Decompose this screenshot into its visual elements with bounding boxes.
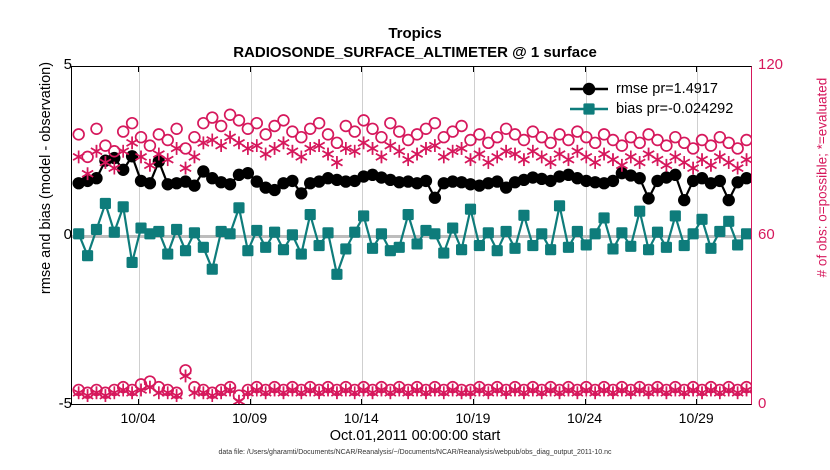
x-tick-mark — [361, 399, 362, 405]
series-bias — [73, 198, 751, 280]
x-tick-10-29: 10/29 — [679, 410, 714, 426]
x-tick-10-14: 10/14 — [344, 410, 379, 426]
y-axis-left-label: rmse and bias (model - observation) — [38, 28, 54, 328]
x-tick-mark — [585, 399, 586, 405]
legend-label: rmse pr=1.4917 — [616, 79, 718, 99]
x-tick-10-19: 10/19 — [455, 410, 490, 426]
figure-canvas: Tropics RADIOSONDE_SURFACE_ALTIMETER @ 1… — [0, 0, 830, 470]
y-tick-left-0: 0 — [64, 226, 72, 243]
chart-title-sub: RADIOSONDE_SURFACE_ALTIMETER @ 1 surface — [0, 44, 830, 61]
x-tick-mark — [473, 399, 474, 405]
x-tick-mark — [138, 399, 139, 405]
x-tick-mark — [696, 66, 697, 72]
x-tick-mark — [473, 66, 474, 72]
x-tick-mark — [696, 399, 697, 405]
x-tick-10-04: 10/04 — [120, 410, 155, 426]
x-axis-label: Oct.01,2011 00:00:00 start — [0, 428, 830, 444]
y-tick-right-120: 120 — [758, 56, 783, 73]
x-tick-10-24: 10/24 — [567, 410, 602, 426]
chart-title-main: Tropics — [0, 25, 830, 42]
x-tick-mark — [585, 66, 586, 72]
legend-symbol-filled-square — [566, 99, 612, 119]
series-evaluated — [73, 131, 751, 180]
chart-legend: rmse pr=1.4917bias pr=-0.024292 — [566, 79, 756, 119]
x-tick-mark — [361, 66, 362, 72]
legend-label: bias pr=-0.024292 — [616, 99, 733, 119]
y-tick-left-5: 5 — [64, 56, 72, 73]
x-tick-mark — [250, 66, 251, 72]
y-tick-right-0: 0 — [758, 395, 766, 412]
data-file-footer: data file: /Users/gharamti/Documents/NCA… — [0, 449, 830, 456]
series-evaluated — [73, 370, 751, 404]
legend-item-bias: bias pr=-0.024292 — [566, 99, 756, 119]
y-tick-left-neg5: -5 — [59, 395, 72, 412]
x-tick-mark — [138, 66, 139, 72]
x-tick-10-09: 10/09 — [232, 410, 267, 426]
y-tick-right-60: 60 — [758, 226, 775, 243]
legend-symbol-filled-circle — [566, 79, 612, 99]
legend-item-rmse: rmse pr=1.4917 — [566, 79, 756, 99]
y-axis-right-label: # of obs: o=possible; *=evaluated — [815, 28, 830, 328]
x-tick-mark — [250, 399, 251, 405]
